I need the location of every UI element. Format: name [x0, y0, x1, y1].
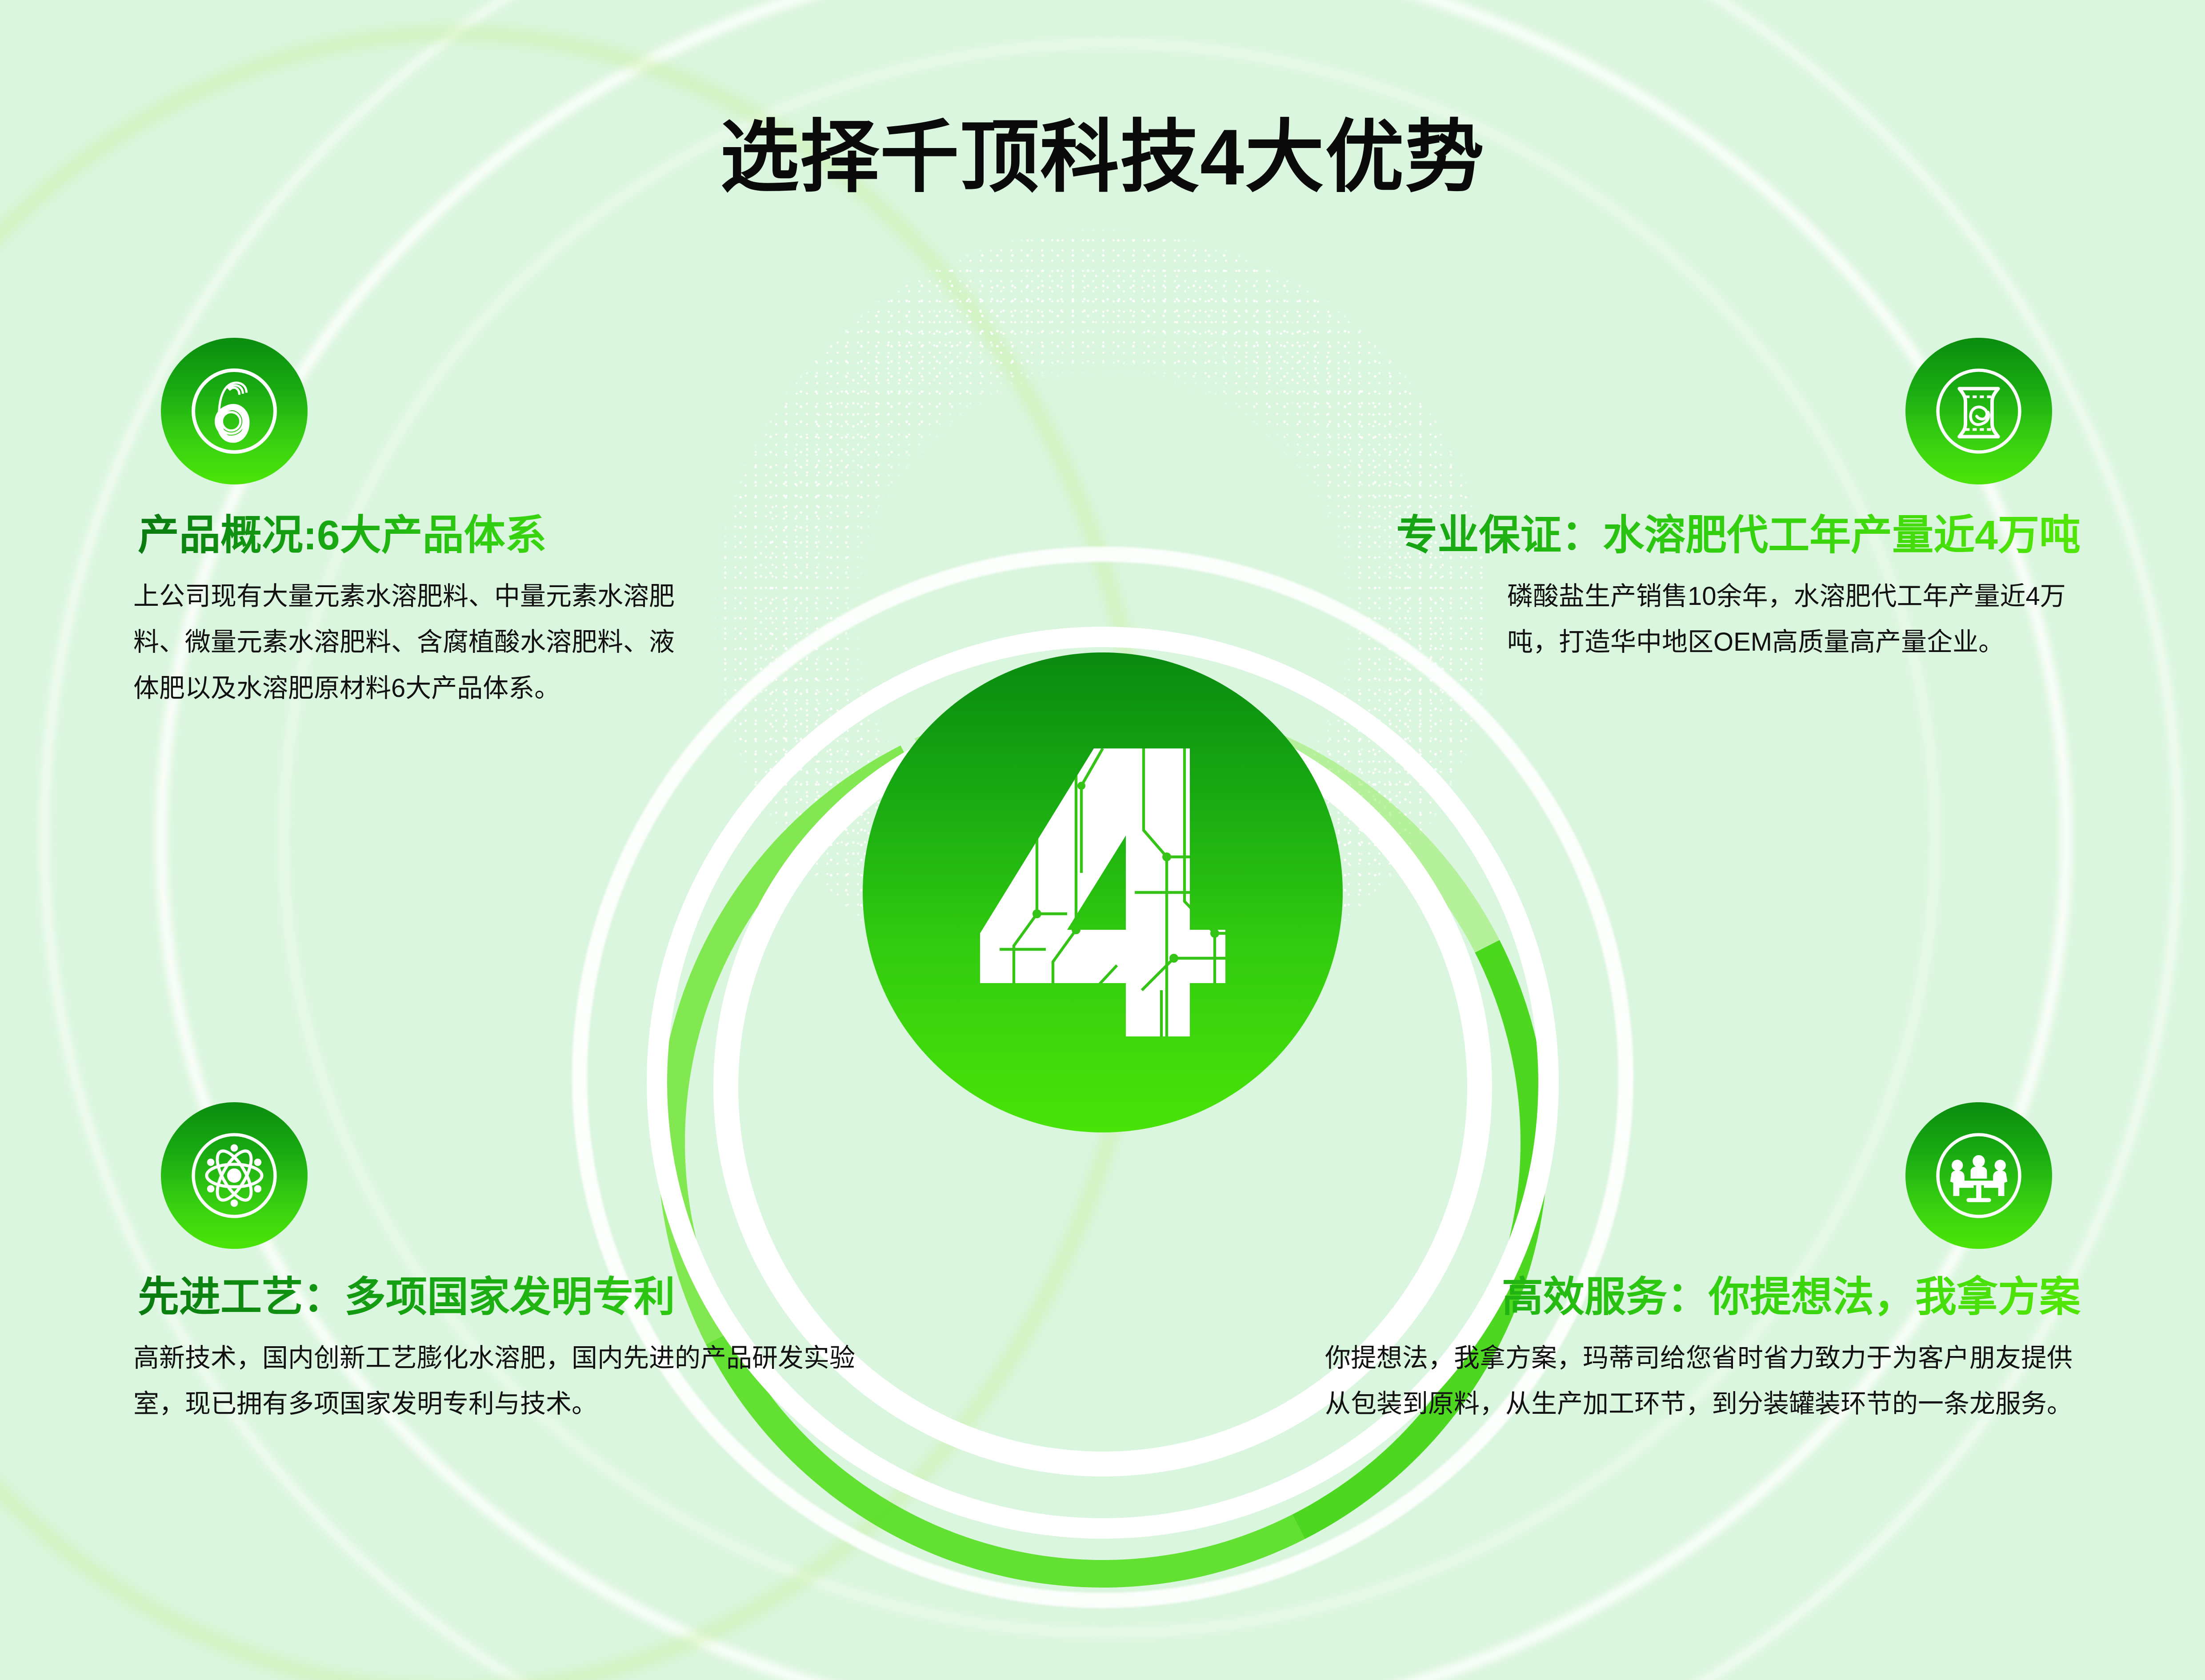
feature-block-product: 产品概况:6大产品体系 上公司现有大量元素水溶肥料、中量元素水溶肥料、微量元素水… [133, 338, 711, 711]
feature-title-service: 高效服务：你提想法，我拿方案 [1094, 1274, 2081, 1320]
atom-icon [161, 1102, 308, 1249]
feature-block-service: 高效服务：你提想法，我拿方案 你提想法，我拿方案，玛蒂司给您省时省力致力于为客户… [1094, 1102, 2081, 1427]
feature-title-craft: 先进工艺：多项国家发明专利 [138, 1274, 1067, 1320]
feature-body-capacity: 磷酸盐生产销售10余年，水溶肥代工年产量近4万吨，打造华中地区OEM高质量高产量… [1507, 573, 2081, 665]
feature-title-product: 产品概况:6大产品体系 [138, 512, 711, 558]
feature-title-capacity: 专业保证：水溶肥代工年产量近4万吨 [1112, 512, 2081, 558]
meeting-table-icon [1905, 1102, 2052, 1249]
feature-block-craft: 先进工艺：多项国家发明专利 高新技术，国内创新工艺膨化水溶肥，国内先进的产品研发… [133, 1102, 1067, 1427]
feature-body-craft: 高新技术，国内创新工艺膨化水溶肥，国内先进的产品研发实验室，现已拥有多项国家发明… [133, 1335, 898, 1427]
number-six-icon [161, 338, 308, 484]
fertilizer-bag-icon [1905, 338, 2052, 484]
feature-block-capacity: 专业保证：水溶肥代工年产量近4万吨 磷酸盐生产销售10余年，水溶肥代工年产量近4… [1112, 338, 2081, 665]
center-number-four-graphic [960, 724, 1245, 1061]
page-title: 选择千顶科技4大优势 [0, 93, 2205, 208]
feature-body-product: 上公司现有大量元素水溶肥料、中量元素水溶肥料、微量元素水溶肥料、含腐植酸水溶肥料… [133, 573, 684, 711]
center-number-badge [863, 652, 1343, 1132]
feature-body-service: 你提想法，我拿方案，玛蒂司给您省时省力致力于为客户朋友提供从包装到原料，从生产加… [1325, 1335, 2081, 1427]
